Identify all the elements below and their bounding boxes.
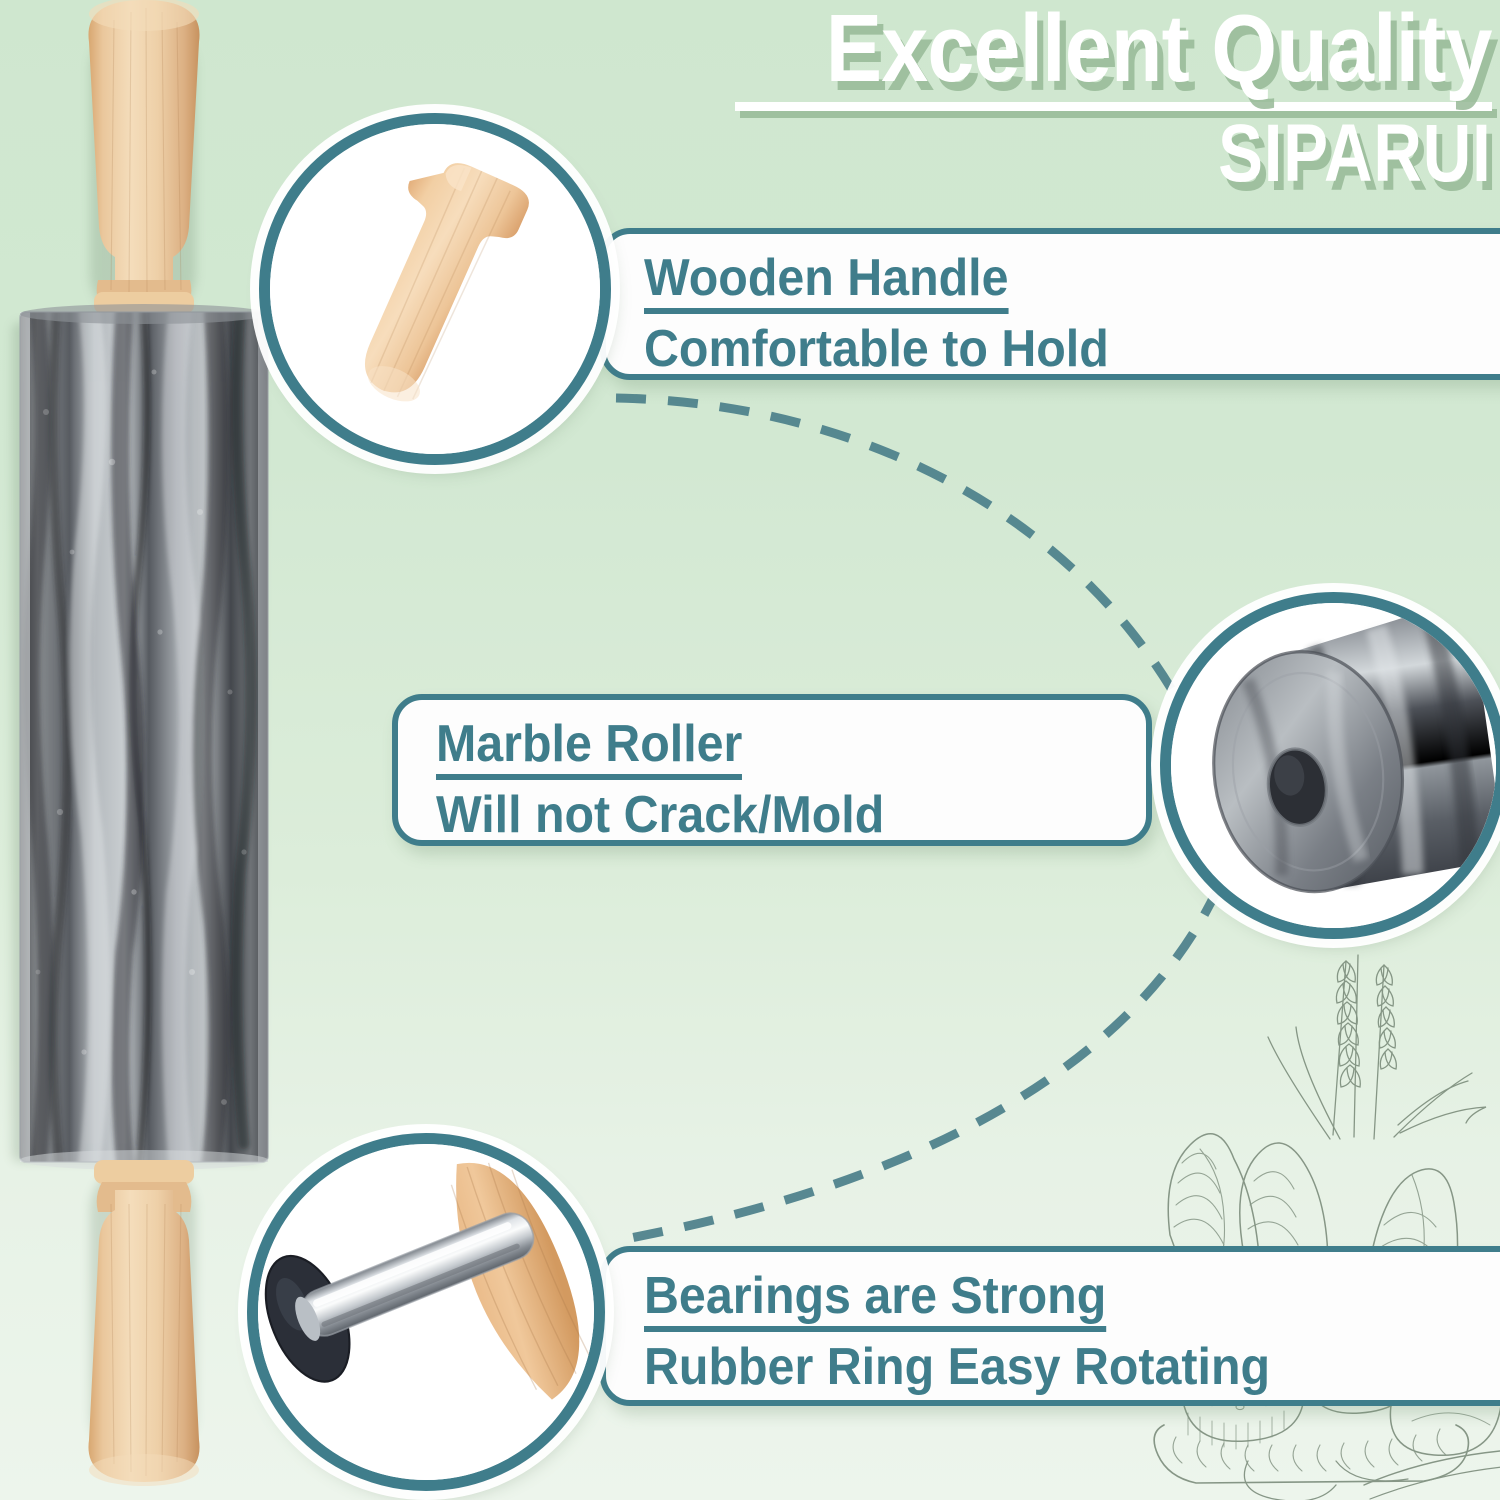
feature-subtitle-wooden-handle: Comfortable to Hold	[644, 320, 1448, 378]
wooden-handle-photo	[270, 124, 600, 454]
inset-photo-marble-end	[1160, 592, 1500, 939]
marble-roller-body	[20, 304, 268, 1184]
feature-subtitle-bearings: Rubber Ring Easy Rotating	[644, 1338, 1448, 1396]
feature-callout-marble-roller: Marble Roller Will not Crack/Mold	[392, 694, 1152, 846]
brand-name: SIPARUI	[872, 113, 1492, 195]
infographic-canvas: Excellent Quality SIPARUI	[0, 0, 1500, 1500]
feature-title-marble-roller: Marble Roller	[436, 716, 742, 780]
bearing-axle-photo	[258, 1144, 594, 1480]
feature-title-wooden-handle: Wooden Handle	[644, 250, 1009, 314]
feature-callout-bearings: Bearings are Strong Rubber Ring Easy Rot…	[600, 1246, 1500, 1406]
header-title-block: Excellent Quality SIPARUI	[735, 2, 1492, 195]
feature-callout-wooden-handle: Wooden Handle Comfortable to Hold	[600, 228, 1500, 380]
marble-roller-end-photo	[1171, 603, 1496, 928]
page-title: Excellent Quality	[826, 2, 1492, 96]
inset-photo-wooden-handle	[259, 113, 611, 465]
inset-photo-bearing-axle	[247, 1133, 605, 1491]
feature-title-bearings: Bearings are Strong	[644, 1268, 1106, 1332]
bread-basket-illustration	[1108, 925, 1500, 1500]
feature-subtitle-marble-roller: Will not Crack/Mold	[436, 786, 1072, 844]
bottom-wooden-handle	[88, 1160, 199, 1486]
